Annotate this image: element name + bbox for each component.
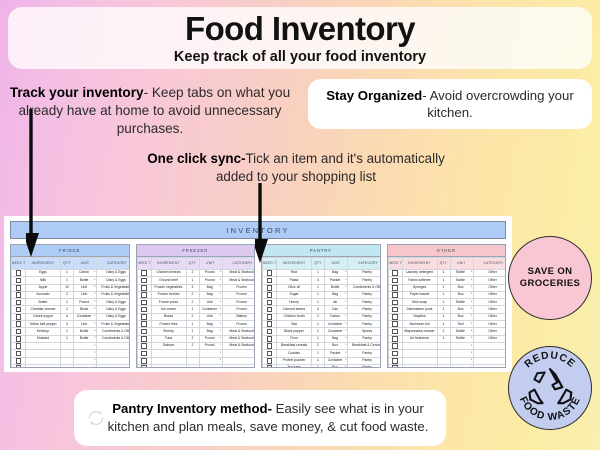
cell-category[interactable]: Condiments & Oils▾ <box>97 328 130 335</box>
cell-ingredient[interactable]: Dish soap <box>402 299 437 306</box>
cell-qty[interactable]: 1 <box>437 291 450 298</box>
cell-qty[interactable]: 2 <box>186 335 199 342</box>
chevron-down-icon[interactable]: ▾ <box>94 367 95 368</box>
cell-qty[interactable] <box>61 364 74 368</box>
cell-unit[interactable]: ▾ <box>199 357 222 364</box>
cell-unit[interactable]: Bottle▾ <box>325 284 348 291</box>
cell-category[interactable]: Breakfast & Cereals▾ <box>348 342 381 349</box>
need-to-buy-checkbox[interactable] <box>388 270 402 277</box>
chevron-down-icon[interactable]: ▾ <box>220 323 221 326</box>
need-to-buy-checkbox[interactable] <box>388 284 402 291</box>
cell-category[interactable]: Other▾ <box>473 313 506 320</box>
cell-qty[interactable]: 3 <box>61 321 74 328</box>
need-to-buy-checkbox[interactable] <box>137 342 151 349</box>
table-row[interactable]: Avocado2Unit▾Fruits & Vegetables▾ <box>12 291 130 298</box>
cell-ingredient[interactable] <box>26 364 61 368</box>
cell-qty[interactable]: 1 <box>186 277 199 284</box>
cell-unit[interactable]: Container▾ <box>325 357 348 364</box>
table-row[interactable]: Olive oil1Bottle▾Condiments & Oils▾ <box>263 284 381 291</box>
chevron-down-icon[interactable]: ▾ <box>94 315 95 318</box>
cell-unit[interactable]: Box▾ <box>325 364 348 368</box>
cell-category[interactable]: Fruits & Vegetables▾ <box>97 284 130 291</box>
chevron-down-icon[interactable]: ▾ <box>345 344 346 347</box>
cell-ingredient[interactable]: Ground beef <box>151 277 186 284</box>
cell-category[interactable]: Meat & Seafood▾ <box>222 335 255 342</box>
cell-category[interactable]: ▾ <box>97 350 130 357</box>
need-to-buy-checkbox[interactable] <box>388 299 402 306</box>
table-row[interactable]: Eggs1Carton▾Dairy & Eggs▾ <box>12 270 130 277</box>
table-row[interactable]: Air freshener1Bottle▾Other▾ <box>388 335 506 342</box>
table-row[interactable]: Mustard1Bottle▾Condiments & Oils▾ <box>12 335 130 342</box>
chevron-down-icon[interactable]: ▾ <box>471 301 472 304</box>
cell-qty[interactable] <box>437 364 450 368</box>
cell-ingredient[interactable]: Black pepper <box>277 328 312 335</box>
need-to-buy-checkbox[interactable] <box>137 328 151 335</box>
table-row[interactable]: Frozen berries2Bag▾Frozen▾ <box>137 291 255 298</box>
chevron-down-icon[interactable]: ▾ <box>471 279 472 282</box>
cell-qty[interactable]: 1 <box>186 321 199 328</box>
cell-unit[interactable]: Box▾ <box>450 291 473 298</box>
cell-ingredient[interactable]: Aluminum foil <box>402 321 437 328</box>
chevron-down-icon[interactable]: ▾ <box>94 337 95 340</box>
chevron-down-icon[interactable]: ▾ <box>345 330 346 333</box>
need-to-buy-checkbox[interactable] <box>263 284 277 291</box>
cell-unit[interactable]: Pound▾ <box>74 299 97 306</box>
chevron-down-icon[interactable]: ▾ <box>220 293 221 296</box>
cell-category[interactable]: ▾ <box>473 357 506 364</box>
table-row[interactable]: Sugar1Bag▾Pantry▾ <box>263 291 381 298</box>
cell-category[interactable]: Condiments & Oils▾ <box>348 284 381 291</box>
cell-qty[interactable] <box>437 357 450 364</box>
cell-category[interactable]: ▾ <box>473 350 506 357</box>
table-row[interactable]: Frozen vegetables3Bag▾Frozen▾ <box>137 284 255 291</box>
cell-ingredient[interactable]: Fabric softener <box>402 277 437 284</box>
cell-category[interactable]: Meat & Seafood▾ <box>222 277 255 284</box>
cell-unit[interactable]: Bottle▾ <box>450 335 473 342</box>
need-to-buy-checkbox[interactable] <box>263 277 277 284</box>
cell-qty[interactable]: 1 <box>437 284 450 291</box>
need-to-buy-checkbox[interactable] <box>263 328 277 335</box>
table-row[interactable]: ▾▾ <box>388 342 506 349</box>
cell-qty[interactable] <box>186 364 199 368</box>
cell-category[interactable]: ▾ <box>97 364 130 368</box>
cell-ingredient[interactable]: Frozen berries <box>151 291 186 298</box>
need-to-buy-checkbox[interactable] <box>12 342 26 349</box>
cell-ingredient[interactable]: Bread <box>151 313 186 320</box>
chevron-down-icon[interactable]: ▾ <box>220 330 221 333</box>
cell-unit[interactable]: Unit▾ <box>199 313 222 320</box>
table-row[interactable]: Salmon2Pound▾Meat & Seafood▾ <box>137 342 255 349</box>
need-to-buy-checkbox[interactable] <box>388 328 402 335</box>
cell-unit[interactable]: Roll▾ <box>450 321 473 328</box>
table-row[interactable]: Butter1Pound▾Dairy & Eggs▾ <box>12 299 130 306</box>
cell-category[interactable]: Pantry▾ <box>348 270 381 277</box>
cell-category[interactable]: ▾ <box>473 364 506 368</box>
chevron-down-icon[interactable]: ▾ <box>94 293 95 296</box>
need-to-buy-checkbox[interactable] <box>12 277 26 284</box>
cell-ingredient[interactable]: Chicken breasts <box>151 270 186 277</box>
cell-category[interactable]: Other▾ <box>473 321 506 328</box>
cell-qty[interactable] <box>61 342 74 349</box>
table-row[interactable]: Sponges1Box▾Other▾ <box>388 284 506 291</box>
cell-ingredient[interactable]: Olive oil <box>277 284 312 291</box>
need-to-buy-checkbox[interactable] <box>12 313 26 320</box>
table-row[interactable]: Rice1Bag▾Pantry▾ <box>263 270 381 277</box>
table-row[interactable]: Ground beef1Pound▾Meat & Seafood▾ <box>137 277 255 284</box>
cell-ingredient[interactable]: Flour <box>277 335 312 342</box>
table-row[interactable]: Dishwasher pods1Box▾Other▾ <box>388 306 506 313</box>
cell-ingredient[interactable]: Frozen vegetables <box>151 284 186 291</box>
chevron-down-icon[interactable]: ▾ <box>471 352 472 355</box>
chevron-down-icon[interactable]: ▾ <box>471 308 472 311</box>
table-row[interactable]: Napkins1Box▾Other▾ <box>388 313 506 320</box>
cell-qty[interactable]: 1 <box>312 284 325 291</box>
cell-category[interactable]: Other▾ <box>473 291 506 298</box>
cell-unit[interactable]: Bottle▾ <box>450 299 473 306</box>
need-to-buy-checkbox[interactable] <box>137 357 151 364</box>
need-to-buy-checkbox[interactable] <box>137 321 151 328</box>
need-to-buy-checkbox[interactable] <box>388 277 402 284</box>
cell-unit[interactable]: ▾ <box>74 342 97 349</box>
cell-ingredient[interactable] <box>151 350 186 357</box>
table-row[interactable]: Apple10Unit▾Fruits & Vegetables▾ <box>12 284 130 291</box>
cell-ingredient[interactable]: Dishwasher pods <box>402 306 437 313</box>
cell-ingredient[interactable]: Frozen fries <box>151 321 186 328</box>
table-row[interactable]: Canned beans4Can▾Pantry▾ <box>263 306 381 313</box>
cell-ingredient[interactable]: Breakfast cereals <box>277 342 312 349</box>
table-row[interactable]: ▾▾ <box>12 357 130 364</box>
cell-ingredient[interactable]: Protein powder <box>277 357 312 364</box>
cell-qty[interactable]: 1 <box>61 299 74 306</box>
cell-unit[interactable]: Bottle▾ <box>74 335 97 342</box>
table-row[interactable]: Ketchup1Bottle▾Condiments & Oils▾ <box>12 328 130 335</box>
chevron-down-icon[interactable]: ▾ <box>345 301 346 304</box>
table-row[interactable]: Honey1Jar▾Pantry▾ <box>263 299 381 306</box>
cell-unit[interactable]: Pound▾ <box>199 335 222 342</box>
need-to-buy-checkbox[interactable] <box>12 364 26 368</box>
need-to-buy-checkbox[interactable] <box>137 306 151 313</box>
chevron-down-icon[interactable]: ▾ <box>94 352 95 355</box>
cell-category[interactable]: Pantry▾ <box>348 313 381 320</box>
cell-unit[interactable]: Bottle▾ <box>450 270 473 277</box>
need-to-buy-checkbox[interactable] <box>263 299 277 306</box>
need-to-buy-checkbox[interactable] <box>12 270 26 277</box>
need-to-buy-checkbox[interactable] <box>388 291 402 298</box>
table-row[interactable]: ▾▾ <box>388 350 506 357</box>
inventory-table-fridge[interactable]: FRIDGENEED TO BUY?INGREDIENTQTYUNITCATEG… <box>10 244 130 368</box>
need-to-buy-checkbox[interactable] <box>12 291 26 298</box>
cell-ingredient[interactable] <box>402 364 437 368</box>
need-to-buy-checkbox[interactable] <box>12 335 26 342</box>
cell-category[interactable]: Spices▾ <box>348 328 381 335</box>
cell-ingredient[interactable]: Sponges <box>402 284 437 291</box>
chevron-down-icon[interactable]: ▾ <box>345 352 346 355</box>
need-to-buy-checkbox[interactable] <box>12 299 26 306</box>
cell-ingredient[interactable]: Napkins <box>402 313 437 320</box>
cell-qty[interactable]: 3 <box>186 284 199 291</box>
table-row[interactable]: Shrimp1Bag▾Meat & Seafood▾ <box>137 328 255 335</box>
cell-qty[interactable]: 2 <box>186 313 199 320</box>
table-row[interactable]: Tea bags1Box▾Pantry▾ <box>263 364 381 368</box>
chevron-down-icon[interactable]: ▾ <box>94 286 95 289</box>
chevron-down-icon[interactable]: ▾ <box>471 367 472 368</box>
cell-category[interactable]: ▾ <box>222 350 255 357</box>
cell-qty[interactable]: 2 <box>186 299 199 306</box>
cell-category[interactable]: Dairy & Eggs▾ <box>97 306 130 313</box>
chevron-down-icon[interactable]: ▾ <box>94 308 95 311</box>
chevron-down-icon[interactable]: ▾ <box>220 301 221 304</box>
cell-category[interactable]: Frozen▾ <box>222 284 255 291</box>
cell-unit[interactable]: Bag▾ <box>325 335 348 342</box>
need-to-buy-checkbox[interactable] <box>263 357 277 364</box>
need-to-buy-checkbox[interactable] <box>388 313 402 320</box>
need-to-buy-checkbox[interactable] <box>263 270 277 277</box>
cell-qty[interactable] <box>61 357 74 364</box>
need-to-buy-checkbox[interactable] <box>12 357 26 364</box>
cell-category[interactable]: Pantry▾ <box>348 291 381 298</box>
cell-category[interactable]: Meat & Seafood▾ <box>222 328 255 335</box>
cell-qty[interactable] <box>186 350 199 357</box>
need-to-buy-checkbox[interactable] <box>12 350 26 357</box>
table-row[interactable]: Tuna2Pound▾Meat & Seafood▾ <box>137 335 255 342</box>
cell-category[interactable]: Frozen▾ <box>222 321 255 328</box>
chevron-down-icon[interactable]: ▾ <box>471 293 472 296</box>
chevron-down-icon[interactable]: ▾ <box>471 286 472 289</box>
chevron-down-icon[interactable]: ▾ <box>220 344 221 347</box>
cell-unit[interactable]: ▾ <box>199 350 222 357</box>
cell-ingredient[interactable]: Mayonnaise cleaner <box>402 328 437 335</box>
cell-unit[interactable]: Container▾ <box>325 321 348 328</box>
chevron-down-icon[interactable]: ▾ <box>471 323 472 326</box>
cell-ingredient[interactable]: Honey <box>277 299 312 306</box>
table-row[interactable]: Flour1Bag▾Pantry▾ <box>263 335 381 342</box>
cell-category[interactable]: Dairy & Eggs▾ <box>97 313 130 320</box>
cell-ingredient[interactable]: Laundry detergent <box>402 270 437 277</box>
cell-unit[interactable]: Container▾ <box>74 313 97 320</box>
cell-unit[interactable]: ▾ <box>450 350 473 357</box>
table-row[interactable]: Dish soap1Bottle▾Other▾ <box>388 299 506 306</box>
cell-qty[interactable]: 1 <box>312 291 325 298</box>
need-to-buy-checkbox[interactable] <box>137 299 151 306</box>
cell-ingredient[interactable]: Salmon <box>151 342 186 349</box>
cell-category[interactable]: Frozen▾ <box>222 306 255 313</box>
cell-ingredient[interactable]: Eggs <box>26 270 61 277</box>
cell-category[interactable]: Other▾ <box>473 277 506 284</box>
cell-ingredient[interactable]: Air freshener <box>402 335 437 342</box>
cell-unit[interactable]: Pound▾ <box>199 342 222 349</box>
table-row[interactable]: Yellow bell pepper3Unit▾Fruits & Vegetab… <box>12 321 130 328</box>
cell-ingredient[interactable] <box>151 364 186 368</box>
table-row[interactable]: Fabric softener1Bottle▾Other▾ <box>388 277 506 284</box>
cell-unit[interactable]: Pound▾ <box>199 270 222 277</box>
need-to-buy-checkbox[interactable] <box>12 328 26 335</box>
cell-qty[interactable]: 1 <box>437 335 450 342</box>
cell-qty[interactable]: 1 <box>61 270 74 277</box>
cell-ingredient[interactable]: Avocado <box>26 291 61 298</box>
need-to-buy-checkbox[interactable] <box>263 306 277 313</box>
cell-category[interactable]: Frozen▾ <box>222 299 255 306</box>
cell-unit[interactable]: ▾ <box>74 350 97 357</box>
cell-ingredient[interactable]: Butter <box>26 299 61 306</box>
cell-qty[interactable]: 2 <box>312 342 325 349</box>
cell-unit[interactable]: Carton▾ <box>74 270 97 277</box>
chevron-down-icon[interactable]: ▾ <box>220 352 221 355</box>
cell-unit[interactable]: Container▾ <box>199 306 222 313</box>
cell-unit[interactable]: Bag▾ <box>199 284 222 291</box>
need-to-buy-checkbox[interactable] <box>137 270 151 277</box>
chevron-down-icon[interactable]: ▾ <box>345 323 346 326</box>
table-row[interactable]: Paper towels1Box▾Other▾ <box>388 291 506 298</box>
cell-qty[interactable]: 1 <box>186 306 199 313</box>
cell-unit[interactable]: Pound▾ <box>199 277 222 284</box>
chevron-down-icon[interactable]: ▾ <box>345 359 346 362</box>
cell-ingredient[interactable] <box>402 342 437 349</box>
table-row[interactable]: Chicken broth2Carton▾Pantry▾ <box>263 313 381 320</box>
need-to-buy-checkbox[interactable] <box>263 291 277 298</box>
need-to-buy-checkbox[interactable] <box>263 321 277 328</box>
cell-unit[interactable]: Unit▾ <box>74 291 97 298</box>
cell-ingredient[interactable] <box>26 350 61 357</box>
need-to-buy-checkbox[interactable] <box>388 335 402 342</box>
cell-unit[interactable]: Can▾ <box>325 306 348 313</box>
cell-unit[interactable]: ▾ <box>199 364 222 368</box>
cell-ingredient[interactable]: Yellow bell pepper <box>26 321 61 328</box>
table-row[interactable]: ▾▾ <box>388 357 506 364</box>
table-row[interactable]: Aluminum foil1Roll▾Other▾ <box>388 321 506 328</box>
need-to-buy-checkbox[interactable] <box>263 313 277 320</box>
table-row[interactable]: Black pepper1Container▾Spices▾ <box>263 328 381 335</box>
need-to-buy-checkbox[interactable] <box>388 357 402 364</box>
cell-qty[interactable]: 2 <box>186 270 199 277</box>
cell-qty[interactable]: 1 <box>437 313 450 320</box>
cell-ingredient[interactable]: Rice <box>277 270 312 277</box>
cell-category[interactable]: Fruits & Vegetables▾ <box>97 291 130 298</box>
chevron-down-icon[interactable]: ▾ <box>345 308 346 311</box>
cell-qty[interactable]: 2 <box>186 342 199 349</box>
cell-category[interactable]: Dairy & Eggs▾ <box>97 277 130 284</box>
need-to-buy-checkbox[interactable] <box>388 342 402 349</box>
cell-unit[interactable]: Bag▾ <box>199 328 222 335</box>
chevron-down-icon[interactable]: ▾ <box>220 367 221 368</box>
cell-qty[interactable]: 1 <box>437 328 450 335</box>
cell-ingredient[interactable]: Greek yogurt <box>26 313 61 320</box>
cell-unit[interactable]: ▾ <box>450 364 473 368</box>
table-row[interactable]: ▾▾ <box>137 364 255 368</box>
cell-unit[interactable]: ▾ <box>74 357 97 364</box>
cell-ingredient[interactable]: Ketchup <box>26 328 61 335</box>
need-to-buy-checkbox[interactable] <box>388 364 402 368</box>
need-to-buy-checkbox[interactable] <box>388 306 402 313</box>
cell-unit[interactable]: Jar▾ <box>325 299 348 306</box>
cell-unit[interactable]: Packet▾ <box>325 350 348 357</box>
table-row[interactable]: ▾▾ <box>12 350 130 357</box>
chevron-down-icon[interactable]: ▾ <box>94 301 95 304</box>
table-row[interactable]: ▾▾ <box>12 342 130 349</box>
chevron-down-icon[interactable]: ▾ <box>471 315 472 318</box>
need-to-buy-checkbox[interactable] <box>263 335 277 342</box>
chevron-down-icon[interactable]: ▾ <box>471 330 472 333</box>
cell-ingredient[interactable]: Ice cream <box>151 306 186 313</box>
cell-unit[interactable]: Carton▾ <box>325 313 348 320</box>
cell-qty[interactable]: 1 <box>312 270 325 277</box>
chevron-down-icon[interactable]: ▾ <box>345 337 346 340</box>
chevron-down-icon[interactable]: ▾ <box>345 279 346 282</box>
table-row[interactable]: Protein powder1Container▾Pantry▾ <box>263 357 381 364</box>
inventory-table-freezer[interactable]: FREEZERNEED TO BUY?INGREDIENTQTYUNITCATE… <box>136 244 256 368</box>
cell-qty[interactable]: 1 <box>186 328 199 335</box>
table-row[interactable]: Bread2Unit▾Bakery▾ <box>137 313 255 320</box>
cell-unit[interactable]: Bottle▾ <box>74 277 97 284</box>
cell-qty[interactable]: 4 <box>312 306 325 313</box>
cell-unit[interactable]: Unit▾ <box>199 299 222 306</box>
need-to-buy-checkbox[interactable] <box>263 350 277 357</box>
need-to-buy-checkbox[interactable] <box>137 291 151 298</box>
chevron-down-icon[interactable]: ▾ <box>220 308 221 311</box>
need-to-buy-checkbox[interactable] <box>263 342 277 349</box>
need-to-buy-checkbox[interactable] <box>137 364 151 368</box>
table-row[interactable]: Cheddar cheese1Block▾Dairy & Eggs▾ <box>12 306 130 313</box>
cell-unit[interactable]: Bag▾ <box>325 291 348 298</box>
cell-category[interactable]: ▾ <box>97 357 130 364</box>
need-to-buy-checkbox[interactable] <box>12 306 26 313</box>
cell-qty[interactable]: 1 <box>61 335 74 342</box>
cell-category[interactable]: Pantry▾ <box>348 321 381 328</box>
cell-qty[interactable]: 6 <box>61 313 74 320</box>
cell-ingredient[interactable]: Frozen pizza <box>151 299 186 306</box>
cell-ingredient[interactable]: Paper towels <box>402 291 437 298</box>
cell-unit[interactable]: Block▾ <box>74 306 97 313</box>
cell-unit[interactable]: Unit▾ <box>74 284 97 291</box>
cell-qty[interactable]: 1 <box>312 299 325 306</box>
chevron-down-icon[interactable]: ▾ <box>471 359 472 362</box>
cell-qty[interactable] <box>437 350 450 357</box>
table-row[interactable]: Greek yogurt6Container▾Dairy & Eggs▾ <box>12 313 130 320</box>
cell-qty[interactable]: 2 <box>312 313 325 320</box>
cell-qty[interactable]: 2 <box>186 291 199 298</box>
cell-ingredient[interactable]: Apple <box>26 284 61 291</box>
chevron-down-icon[interactable]: ▾ <box>220 337 221 340</box>
cell-ingredient[interactable]: Cheddar cheese <box>26 306 61 313</box>
table-row[interactable]: Salt1Container▾Pantry▾ <box>263 321 381 328</box>
cell-ingredient[interactable]: Cookies <box>277 350 312 357</box>
table-row[interactable]: Chicken breasts2Pound▾Meat & Seafood▾ <box>137 270 255 277</box>
cell-qty[interactable]: 1 <box>312 357 325 364</box>
cell-ingredient[interactable] <box>402 357 437 364</box>
inventory-table-other[interactable]: OTHERNEED TO BUY?INGREDIENTQTYUNITCATEGO… <box>387 244 507 368</box>
chevron-down-icon[interactable]: ▾ <box>94 359 95 362</box>
chevron-down-icon[interactable]: ▾ <box>471 271 472 274</box>
cell-unit[interactable]: Container▾ <box>325 328 348 335</box>
cell-qty[interactable]: 1 <box>312 350 325 357</box>
cell-category[interactable]: ▾ <box>222 357 255 364</box>
cell-category[interactable]: ▾ <box>222 364 255 368</box>
need-to-buy-checkbox[interactable] <box>388 321 402 328</box>
chevron-down-icon[interactable]: ▾ <box>220 279 221 282</box>
cell-ingredient[interactable]: Tea bags <box>277 364 312 368</box>
cell-category[interactable]: Other▾ <box>473 306 506 313</box>
cell-ingredient[interactable]: Mustard <box>26 335 61 342</box>
chevron-down-icon[interactable]: ▾ <box>220 271 221 274</box>
cell-category[interactable]: Fruits & Vegetables▾ <box>97 321 130 328</box>
cell-qty[interactable]: 1 <box>312 321 325 328</box>
table-row[interactable]: Milk1Bottle▾Dairy & Eggs▾ <box>12 277 130 284</box>
cell-ingredient[interactable] <box>26 357 61 364</box>
cell-category[interactable]: Meat & Seafood▾ <box>222 342 255 349</box>
cell-unit[interactable]: Box▾ <box>325 342 348 349</box>
cell-unit[interactable]: Box▾ <box>450 313 473 320</box>
need-to-buy-checkbox[interactable] <box>263 364 277 368</box>
cell-category[interactable]: Pantry▾ <box>348 335 381 342</box>
